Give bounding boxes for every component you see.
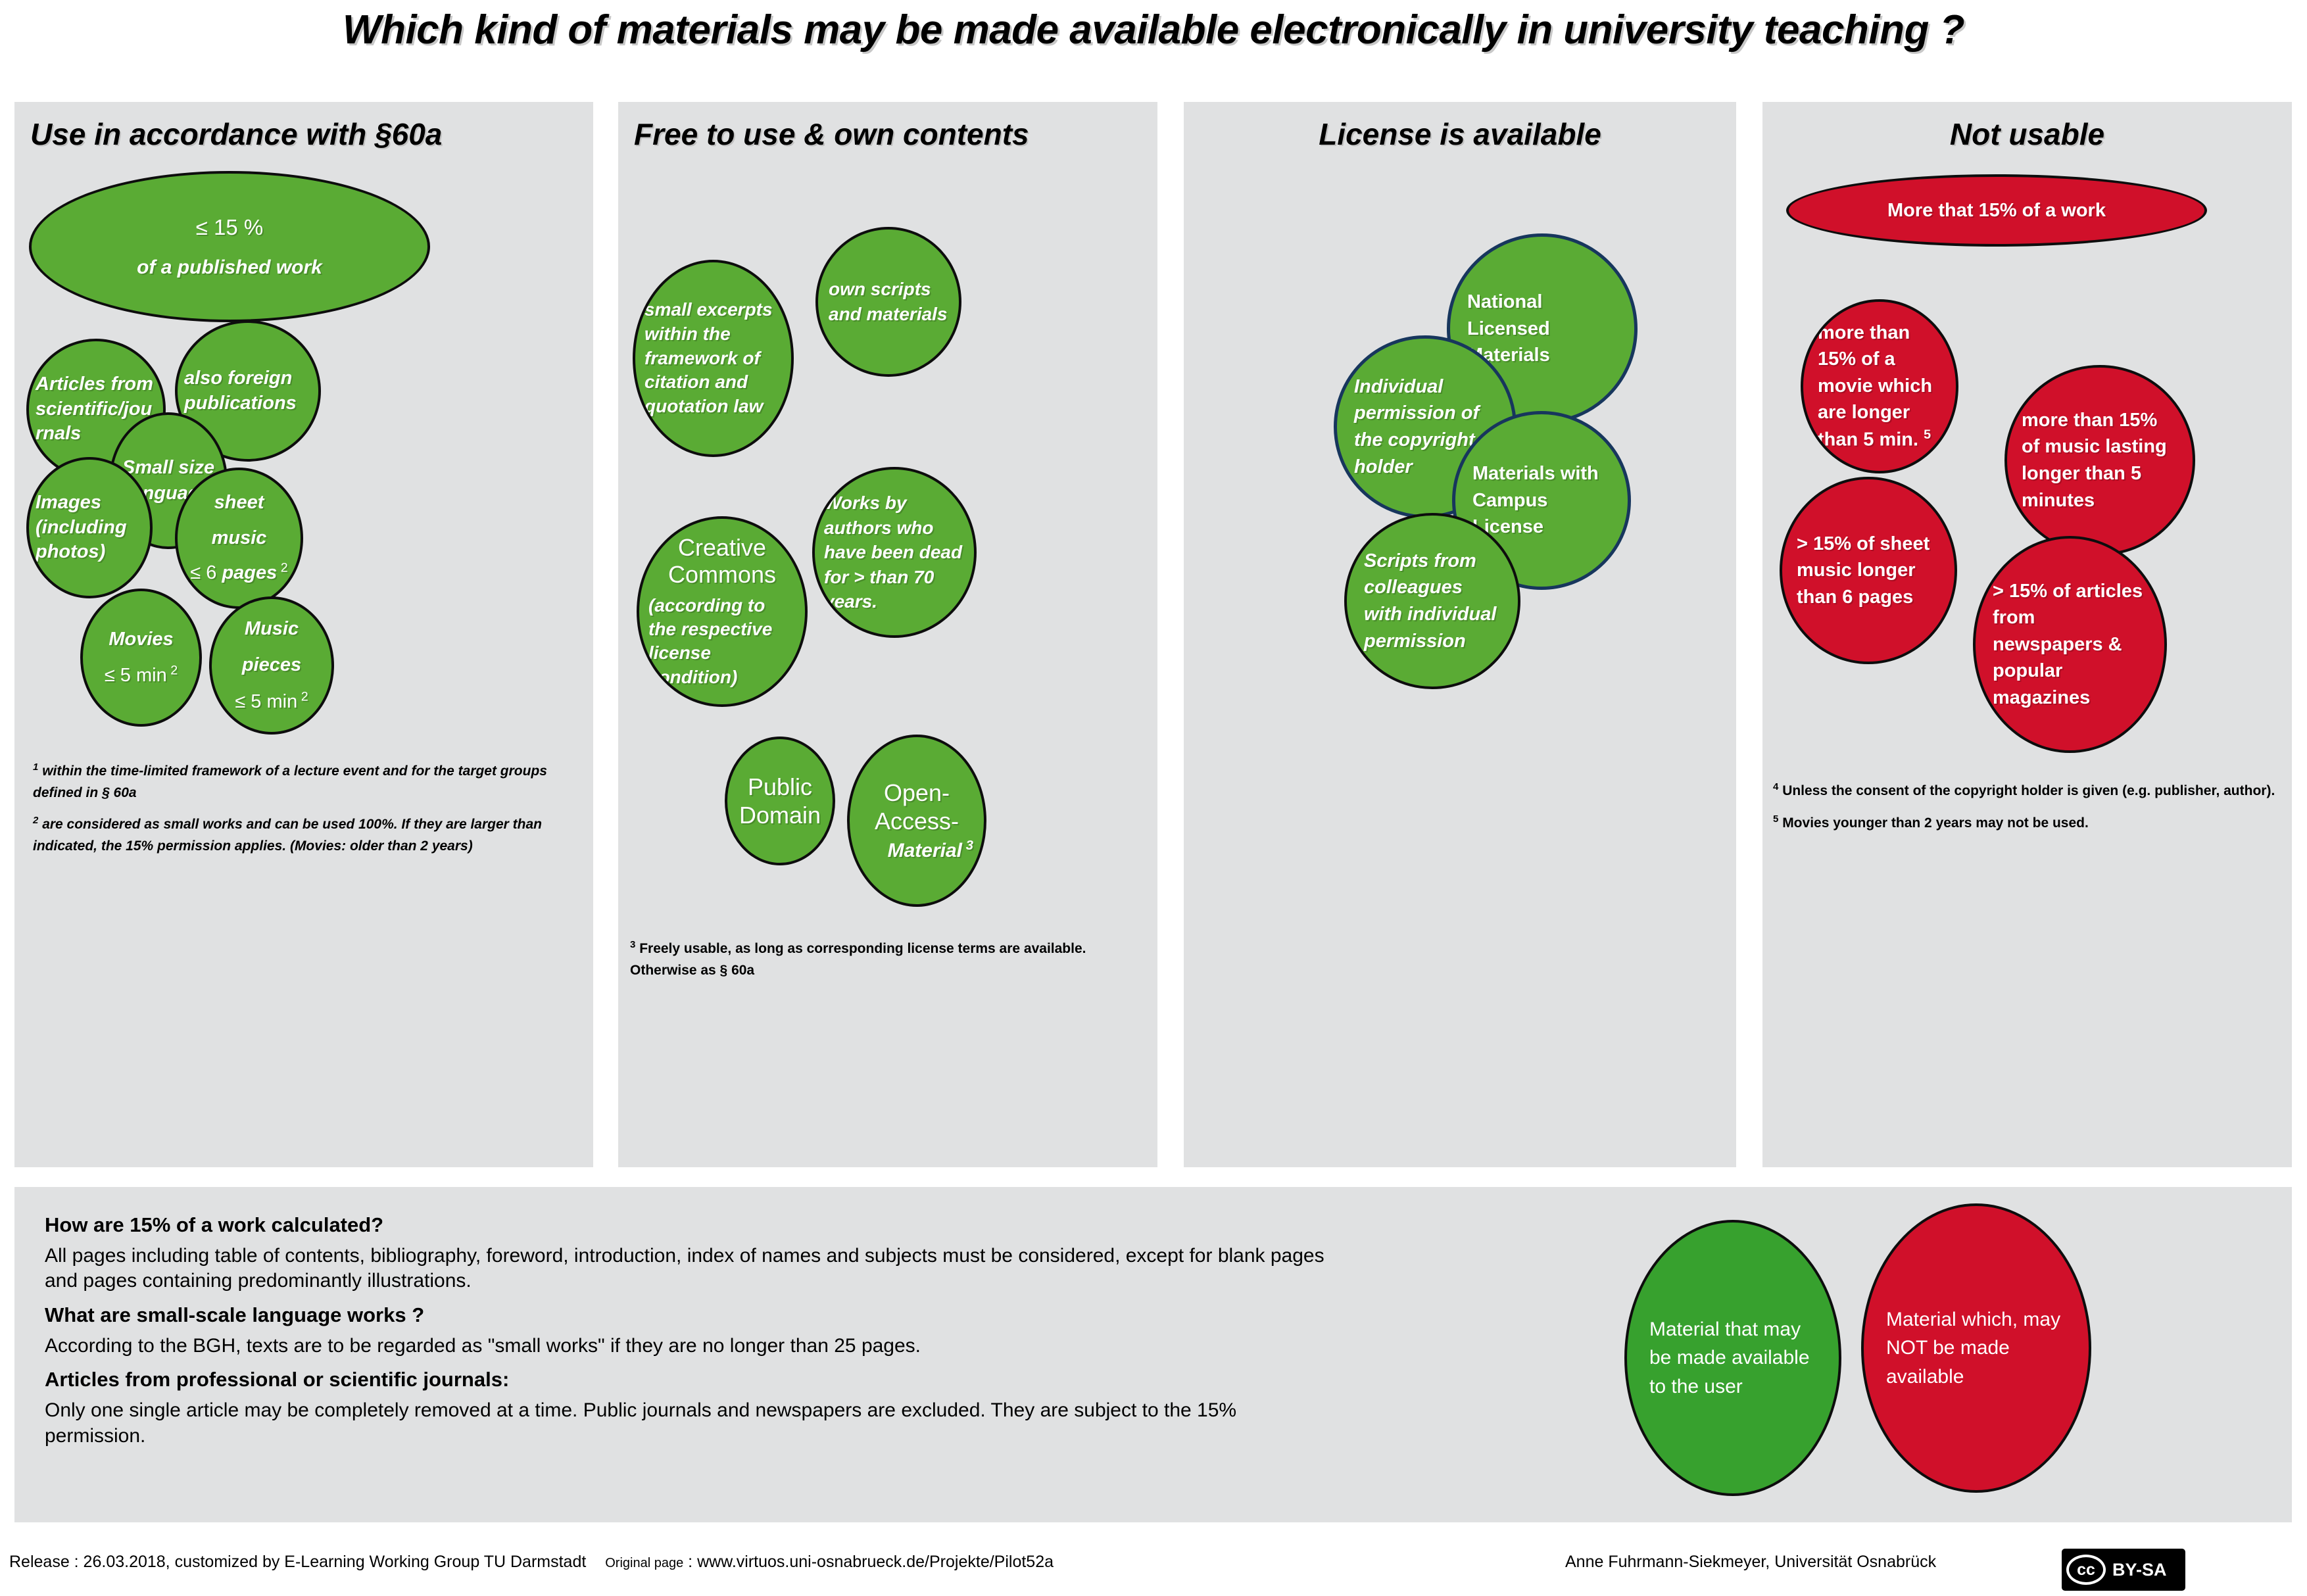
cc-icon: cc xyxy=(2066,1555,2106,1585)
bubble-more-15-articles: > 15% of articles from newspapers & popu… xyxy=(1973,536,2167,753)
explanations-text: How are 15% of a work calculated? All pa… xyxy=(45,1204,1327,1455)
bubble-scripts-colleagues: Scripts from colleagues with individual … xyxy=(1344,513,1520,689)
footnote-1-number: 1 xyxy=(33,762,38,773)
bubble-more-15-music: more than 15% of music lasting longer th… xyxy=(2004,365,2195,556)
column-1-title: Use in accordance with §60a xyxy=(14,116,593,152)
legend-allowed-bubble: Material that may be made available to t… xyxy=(1624,1220,1841,1496)
footnote-2: 2 are considered as small works and can … xyxy=(33,813,572,857)
footer-author: Anne Fuhrmann-Siekmeyer, Universität Osn… xyxy=(1565,1553,1936,1572)
footnote-5-number: 5 xyxy=(1773,813,1778,825)
bubble-small-excerpts: small excerpts within the framework of c… xyxy=(633,260,794,457)
question-2: What are small-scale language works ? xyxy=(45,1303,1327,1327)
column-free-to-use: Free to use & own contents small excerpt… xyxy=(618,102,1157,1167)
footer-left: Release : 26.03.2018, customized by E-Le… xyxy=(9,1553,1054,1572)
answer-3: Only one single article may be completel… xyxy=(45,1398,1327,1449)
legend-not-allowed-label: Material which, may NOT be made availabl… xyxy=(1864,1305,2089,1391)
column-2-title: Free to use & own contents xyxy=(618,116,1157,152)
footnote-1-text: within the time-limited framework of a l… xyxy=(33,763,547,800)
bubble-public-domain: Public Domain xyxy=(725,737,835,865)
bubble-works-authors-dead: Works by authors who have been dead for … xyxy=(812,467,977,638)
bubble-15-percent: ≤ 15 %of a published work xyxy=(29,171,430,322)
footer-bar: Release : 26.03.2018, customized by E-Le… xyxy=(0,1542,2307,1596)
footer-release: Release : 26.03.2018, customized by E-Le… xyxy=(9,1553,586,1571)
footer-original-label: Original page xyxy=(605,1556,683,1570)
column-4-footnotes: 4 Unless the consent of the copyright ho… xyxy=(1773,779,2293,843)
bubble-more-than-15-percent-work: More that 15% of a work xyxy=(1786,174,2207,247)
column-4-title: Not usable xyxy=(1762,116,2292,152)
infographic-page: Which kind of materials may be made avai… xyxy=(0,0,2307,1596)
column-use-in-accordance: Use in accordance with §60a ≤ 15 %of a p… xyxy=(14,102,593,1167)
question-1: How are 15% of a work calculated? xyxy=(45,1213,1327,1237)
question-3: Articles from professional or scientific… xyxy=(45,1368,1327,1391)
bubble-open-access-material: Open-Access- Material 3 xyxy=(847,735,986,907)
footnote-4: 4 Unless the consent of the copyright ho… xyxy=(1773,779,2293,802)
footnote-4-text: Unless the consent of the copyright hold… xyxy=(1782,783,2275,798)
bubble-more-15-sheet-music: > 15% of sheet music longer than 6 pages xyxy=(1780,477,1957,664)
answer-2: According to the BGH, texts are to be re… xyxy=(45,1334,1327,1359)
bubble-images-photos: Images (including photos) xyxy=(26,457,153,598)
footer-original-url[interactable]: : www.virtuos.uni-osnabrueck.de/Projekte… xyxy=(688,1553,1054,1571)
bubble-label: More that 15% of a work xyxy=(1789,200,2204,222)
column-3-title: License is available xyxy=(1184,116,1736,152)
footnote-3-text: Freely usable, as long as corresponding … xyxy=(630,941,1086,978)
footnote-4-number: 4 xyxy=(1773,781,1778,792)
footnote-3-number: 3 xyxy=(630,939,635,950)
bubble-movies: Movies≤ 5 min 2 xyxy=(80,589,202,727)
column-2-footnotes: 3 Freely usable, as long as correspondin… xyxy=(630,937,1136,990)
legend-allowed-label: Material that may be made available to t… xyxy=(1627,1315,1839,1401)
bubble-sheet-music: sheet music≤ 6 pages 2 xyxy=(175,468,303,609)
answer-1: All pages including table of contents, b… xyxy=(45,1244,1327,1294)
cc-license-text: BY-SA xyxy=(2112,1560,2167,1580)
footnote-3: 3 Freely usable, as long as correspondin… xyxy=(630,937,1136,981)
footnote-2-number: 2 xyxy=(33,815,38,826)
bubble-music-pieces: Music pieces≤ 5 min 2 xyxy=(209,596,334,735)
footnote-2-text: are considered as small works and can be… xyxy=(33,817,542,854)
creative-commons-badge: cc BY-SA xyxy=(2062,1549,2185,1591)
footnote-1: 1 within the time-limited framework of a… xyxy=(33,760,572,804)
column-1-footnotes: 1 within the time-limited framework of a… xyxy=(33,760,572,866)
legend-not-allowed-bubble: Material which, may NOT be made availabl… xyxy=(1861,1203,2091,1493)
column-not-usable: Not usable More that 15% of a work more … xyxy=(1762,102,2292,1167)
footnote-5: 5 Movies younger than 2 years may not be… xyxy=(1773,811,2293,834)
bubble-creative-commons: Creative Commons (according to the respe… xyxy=(637,516,808,707)
bubble-own-scripts: own scripts and materials xyxy=(815,227,961,377)
column-license-available: License is available National Licensed M… xyxy=(1184,102,1736,1167)
footnote-5-text: Movies younger than 2 years may not be u… xyxy=(1782,815,2089,831)
page-title: Which kind of materials may be made avai… xyxy=(0,7,2307,53)
bubble-more-15-movie: more than 15% of a movie which are longe… xyxy=(1801,299,1958,473)
